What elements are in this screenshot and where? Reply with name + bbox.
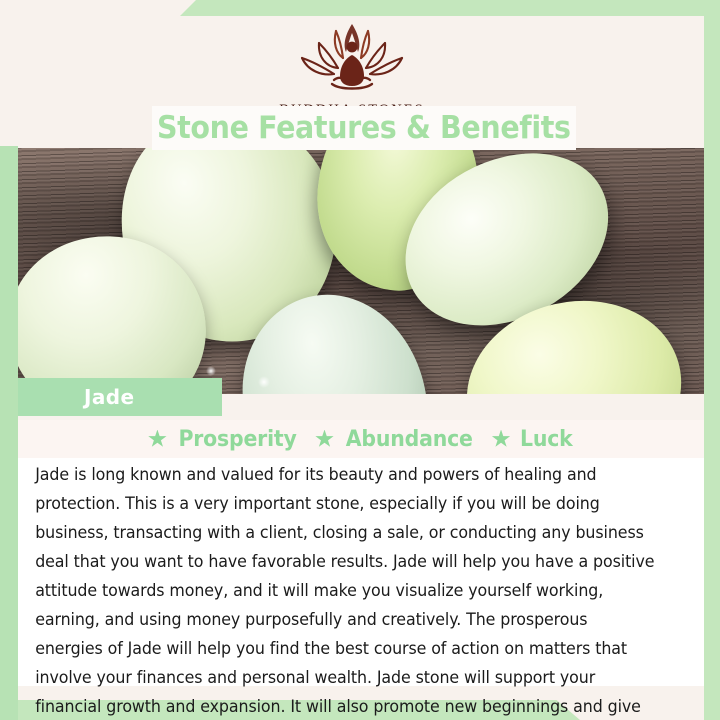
star-icon [492, 430, 511, 449]
stone-name-bar: Jade [18, 378, 222, 416]
stone-gleam [258, 376, 270, 388]
benefit-label: Luck [520, 427, 573, 452]
star-icon [148, 430, 167, 449]
stone-photo [0, 148, 704, 394]
benefit-label: Abundance [346, 427, 473, 452]
page-title: Stone Features & Benefits [157, 113, 571, 144]
description-text: Jade is long known and valued for its be… [18, 458, 673, 720]
benefit-item-abundance: Abundance [315, 427, 478, 452]
benefit-item-prosperity: Prosperity [148, 427, 301, 452]
title-banner: Stone Features & Benefits [152, 106, 576, 150]
stone-gleam [206, 366, 216, 376]
lotus-meditation-icon [286, 18, 418, 100]
brand-logo: BUDDHA STONES [0, 18, 704, 119]
decorative-left-band [0, 146, 18, 720]
benefit-label: Prosperity [178, 427, 296, 452]
benefit-item-luck: Luck [492, 427, 575, 452]
benefits-row: Prosperity Abundance Luck [18, 420, 704, 458]
stone-benefits-poster: BUDDHA STONES Stone Features & Benefits … [0, 0, 720, 720]
description-panel: Jade is long known and valued for its be… [18, 458, 704, 686]
stone-name: Jade [84, 385, 134, 409]
decorative-right-band [704, 0, 720, 720]
star-icon [315, 430, 334, 449]
